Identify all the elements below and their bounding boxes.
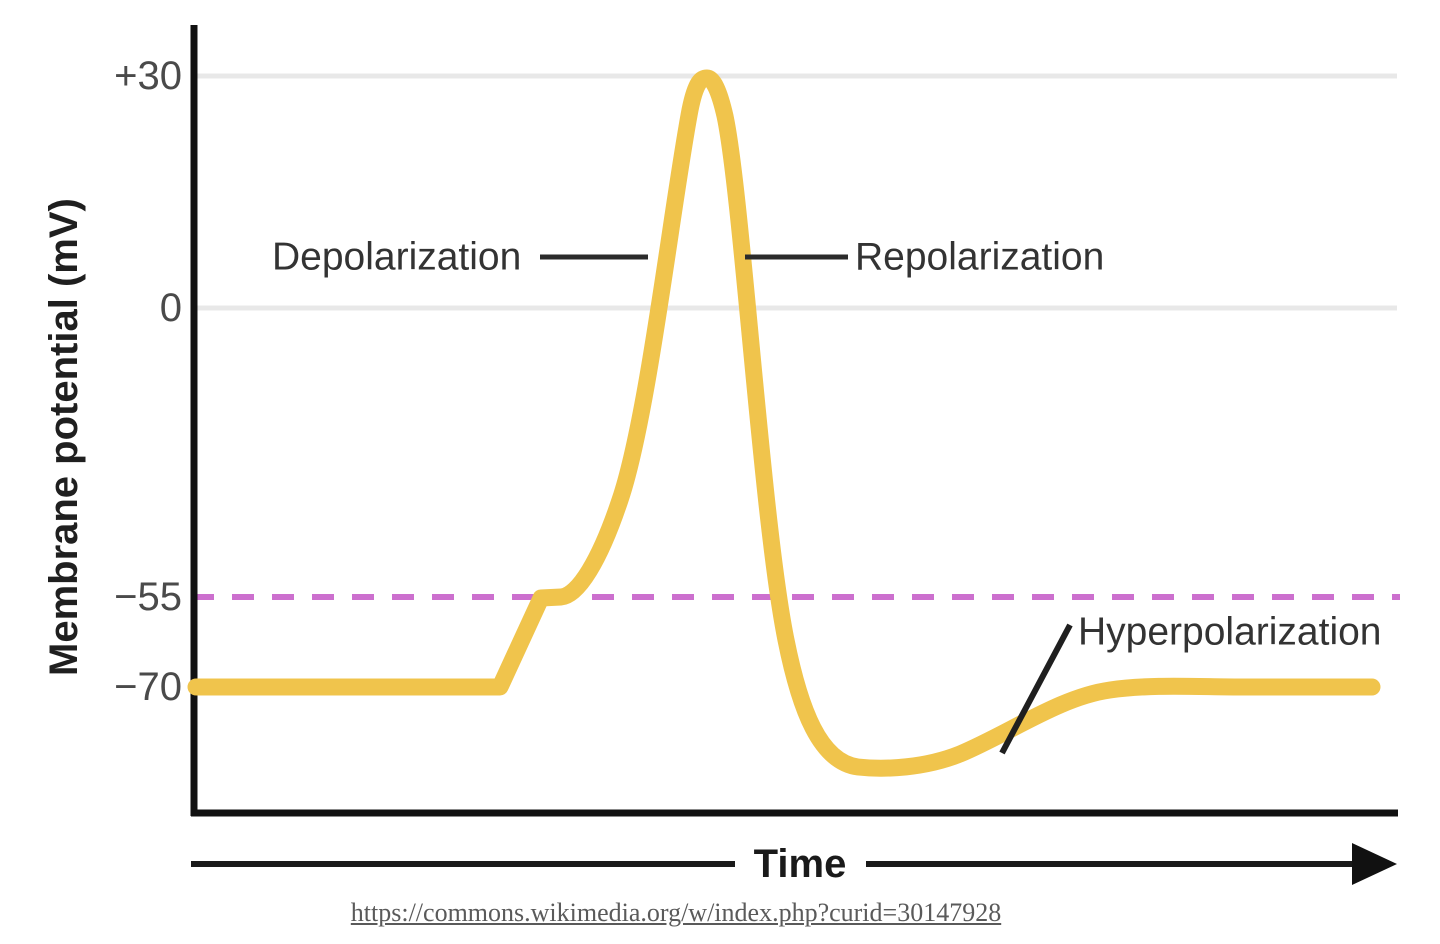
y-axis-title: Membrane potential (mV) [44, 198, 84, 676]
membrane-potential-curve [196, 78, 1372, 768]
y-tick-label-minus55: −55 [114, 577, 182, 617]
action-potential-figure: +30 0 −55 −70 Membrane potential (mV) De… [0, 0, 1440, 944]
source-url-caption[interactable]: https://commons.wikimedia.org/w/index.ph… [351, 900, 1001, 926]
annotation-hyperpolarization: Hyperpolarization [1078, 613, 1382, 652]
action-potential-chart [0, 0, 1440, 944]
x-axis-title: Time [754, 844, 847, 884]
y-tick-label-plus30: +30 [114, 56, 182, 96]
time-arrowhead-icon [1352, 843, 1397, 885]
hyperpolarization-leader-line [1002, 625, 1070, 753]
y-tick-label-zero: 0 [160, 288, 182, 328]
annotation-depolarization: Depolarization [272, 238, 521, 277]
annotation-repolarization: Repolarization [855, 238, 1104, 277]
y-tick-label-minus70: −70 [114, 667, 182, 707]
